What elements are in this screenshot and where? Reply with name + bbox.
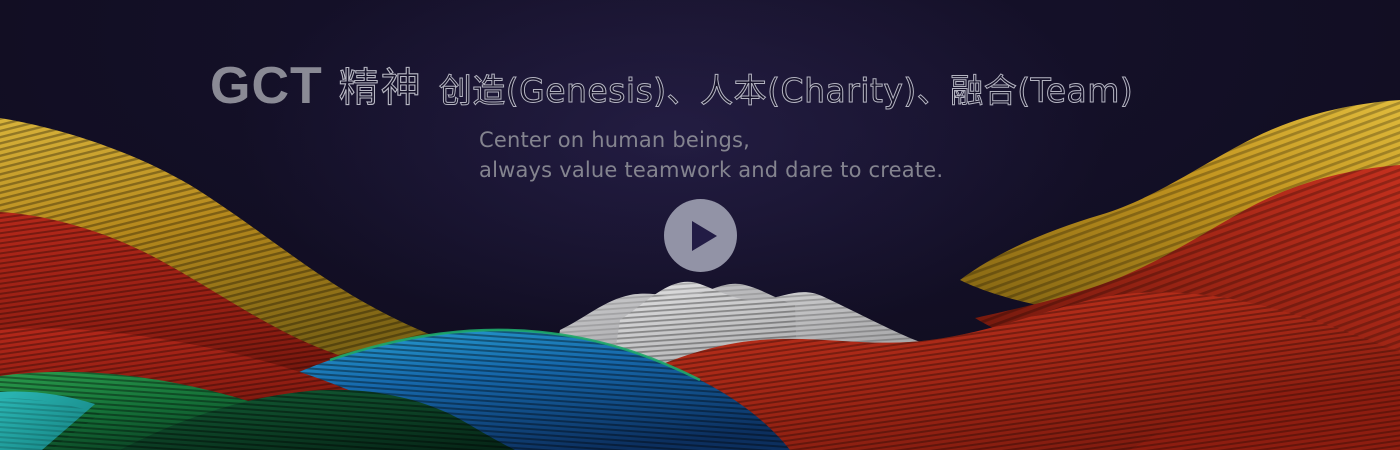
headline: GCT 精神 创造(Genesis)、人本(Charity)、融合(Team): [210, 62, 1133, 111]
subtitle-line-2: always value teamwork and dare to create…: [479, 156, 943, 186]
gct-logo-cn-text: 精神: [339, 67, 423, 109]
play-video-button[interactable]: [664, 199, 737, 272]
headline-slogan: 创造(Genesis)、人本(Charity)、融合(Team): [439, 74, 1134, 109]
banner-content: GCT 精神 创造(Genesis)、人本(Charity)、融合(Team) …: [0, 0, 1400, 450]
hero-banner: GCT 精神 创造(Genesis)、人本(Charity)、融合(Team) …: [0, 0, 1400, 450]
subtitle-line-1: Center on human beings,: [479, 126, 943, 156]
subtitle-block: Center on human beings, always value tea…: [479, 126, 943, 186]
play-icon: [692, 221, 717, 251]
gct-logo-text: GCT: [210, 62, 323, 111]
